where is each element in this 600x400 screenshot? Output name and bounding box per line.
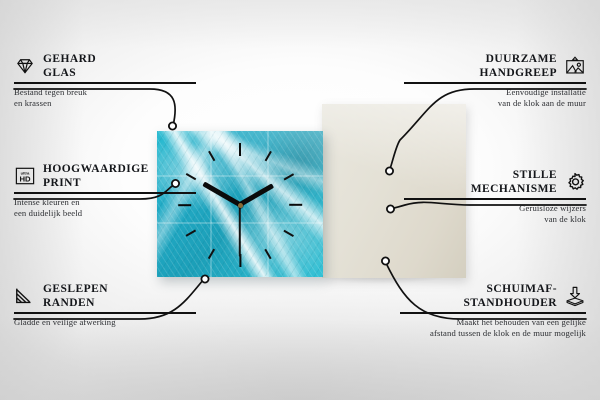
diamond-icon: [14, 55, 36, 77]
second-hand: [239, 203, 241, 257]
clock-tick: [289, 204, 302, 206]
callout-rule: [14, 312, 196, 314]
callout-duurzame-handgreep[interactable]: DUURZAME HANDGREEP Eenvoudige installati…: [404, 52, 586, 109]
callout-header: GEHARD GLAS: [14, 52, 196, 80]
svg-text:HD: HD: [19, 175, 31, 184]
callout-header: ultra HD HOOGWAARDIGE PRINT: [14, 162, 196, 190]
callout-rule: [14, 82, 196, 84]
callout-title-line1: GESLEPEN: [43, 282, 108, 296]
callout-title-line2: GLAS: [43, 66, 96, 80]
callout-desc-line2: en krassen: [14, 98, 196, 109]
callout-title-line1: HOOGWAARDIGE: [43, 162, 149, 176]
callout-header: SCHUIMAF- STANDHOUDER: [400, 282, 586, 310]
gear-icon: [564, 171, 586, 193]
callout-desc-line2: afstand tussen de klok en de muur mogeli…: [400, 328, 586, 339]
callout-desc-line1: Geruisloze wijzers: [404, 203, 586, 214]
callout-desc-line1: Bestand tegen breuk: [14, 87, 196, 98]
callout-title-line1: STILLE: [471, 168, 557, 182]
callout-title-line1: SCHUIMAF-: [463, 282, 557, 296]
diagonal-lines-icon: [14, 285, 36, 307]
callout-desc-line1: Intense kleuren en: [14, 197, 196, 208]
callout-title-line2: RANDEN: [43, 296, 108, 310]
callout-header: GESLEPEN RANDEN: [14, 282, 196, 310]
callout-desc-line1: Eenvoudige installatie: [404, 87, 586, 98]
callout-title-line2: STANDHOUDER: [463, 296, 557, 310]
callout-header: DUURZAME HANDGREEP: [404, 52, 586, 80]
callout-title-line2: PRINT: [43, 176, 149, 190]
callout-hoogwaardige-print[interactable]: ultra HD HOOGWAARDIGE PRINT Intense kleu…: [14, 162, 196, 219]
callout-rule: [400, 312, 586, 314]
callout-desc-line1: Gladde en veilige afwerking: [14, 317, 196, 328]
ultra-hd-icon: ultra HD: [14, 165, 36, 187]
callout-stille-mechanisme[interactable]: STILLE MECHANISME Geruisloze wijzers van…: [404, 168, 586, 225]
callout-desc-line2: van de klok aan de muur: [404, 98, 586, 109]
callout-title-line2: MECHANISME: [471, 182, 557, 196]
down-arrow-pad-icon: [564, 285, 586, 307]
infographic-canvas: GEHARD GLAS Bestand tegen breuk en krass…: [0, 0, 600, 400]
callout-title-line2: HANDGREEP: [479, 66, 557, 80]
callout-rule: [404, 82, 586, 84]
callout-rule: [14, 192, 196, 194]
callout-desc-line1: Maakt het behouden van een gelijke: [400, 317, 586, 328]
callout-geslepen-randen[interactable]: GESLEPEN RANDEN Gladde en veilige afwerk…: [14, 282, 196, 328]
callout-schuimaf-standhouder[interactable]: SCHUIMAF- STANDHOUDER Maakt het behouden…: [400, 282, 586, 339]
callout-gehard-glas[interactable]: GEHARD GLAS Bestand tegen breuk en krass…: [14, 52, 196, 109]
picture-frame-icon: [564, 55, 586, 77]
clock-tick: [239, 143, 241, 156]
clock-hand-hub: [238, 203, 243, 208]
callout-desc-line2: van de klok: [404, 214, 586, 225]
callout-header: STILLE MECHANISME: [404, 168, 586, 196]
callout-rule: [404, 198, 586, 200]
callout-title-line1: GEHARD: [43, 52, 96, 66]
callout-title-line1: DUURZAME: [479, 52, 557, 66]
callout-desc-line2: een duidelijk beeld: [14, 208, 196, 219]
